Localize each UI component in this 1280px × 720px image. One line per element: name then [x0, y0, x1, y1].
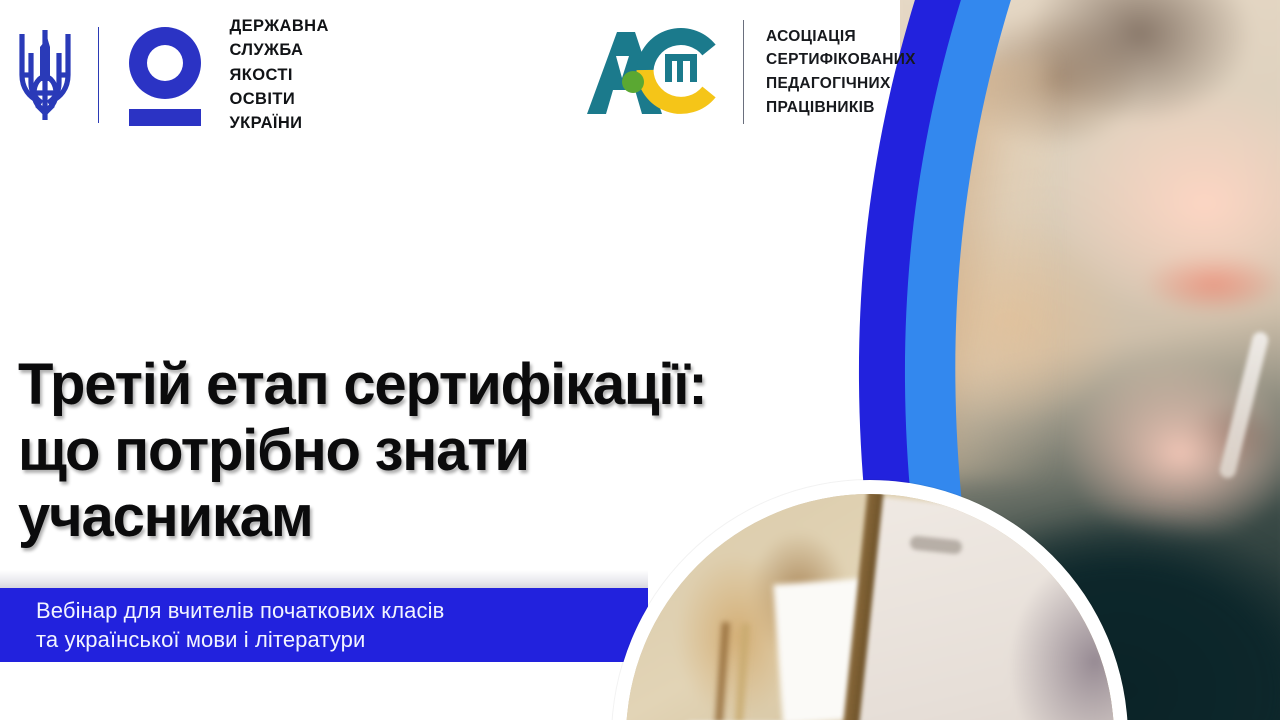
inset-photo-circle: WEBINA: [612, 480, 1128, 720]
logo-aspp: АСОЦІАЦІЯ СЕРТИФІКОВАНИХ ПЕДАГОГІЧНИХ ПР…: [585, 16, 916, 128]
logo-divider: [98, 27, 99, 123]
ukraine-trident-emblem-icon: [14, 23, 76, 127]
inset-pencils-detail: [708, 622, 787, 720]
inset-photo-image: WEBINA: [626, 494, 1114, 720]
subtitle-text: Вебінар для вчителів початкових класів т…: [0, 596, 444, 654]
logo-aspp-divider: [743, 20, 744, 124]
logo-aspp-text: АСОЦІАЦІЯ СЕРТИФІКОВАНИХ ПЕДАГОГІЧНИХ ПР…: [766, 25, 916, 119]
logo-sqe: ДЕРЖАВНА СЛУЖБА ЯКОСТІ ОСВІТИ УКРАЇНИ: [14, 14, 329, 135]
aspp-monogram-mark-icon: [585, 16, 725, 128]
sqe-ring-mark-icon: [123, 23, 207, 127]
subtitle-bar: Вебінар для вчителів початкових класів т…: [0, 588, 648, 662]
webinar-banner: ДЕРЖАВНА СЛУЖБА ЯКОСТІ ОСВІТИ УКРАЇНИ АС…: [0, 0, 1280, 720]
logo-sqe-text: ДЕРЖАВНА СЛУЖБА ЯКОСТІ ОСВІТИ УКРАЇНИ: [229, 14, 329, 135]
subtitle-bar-shadow: [0, 570, 648, 588]
